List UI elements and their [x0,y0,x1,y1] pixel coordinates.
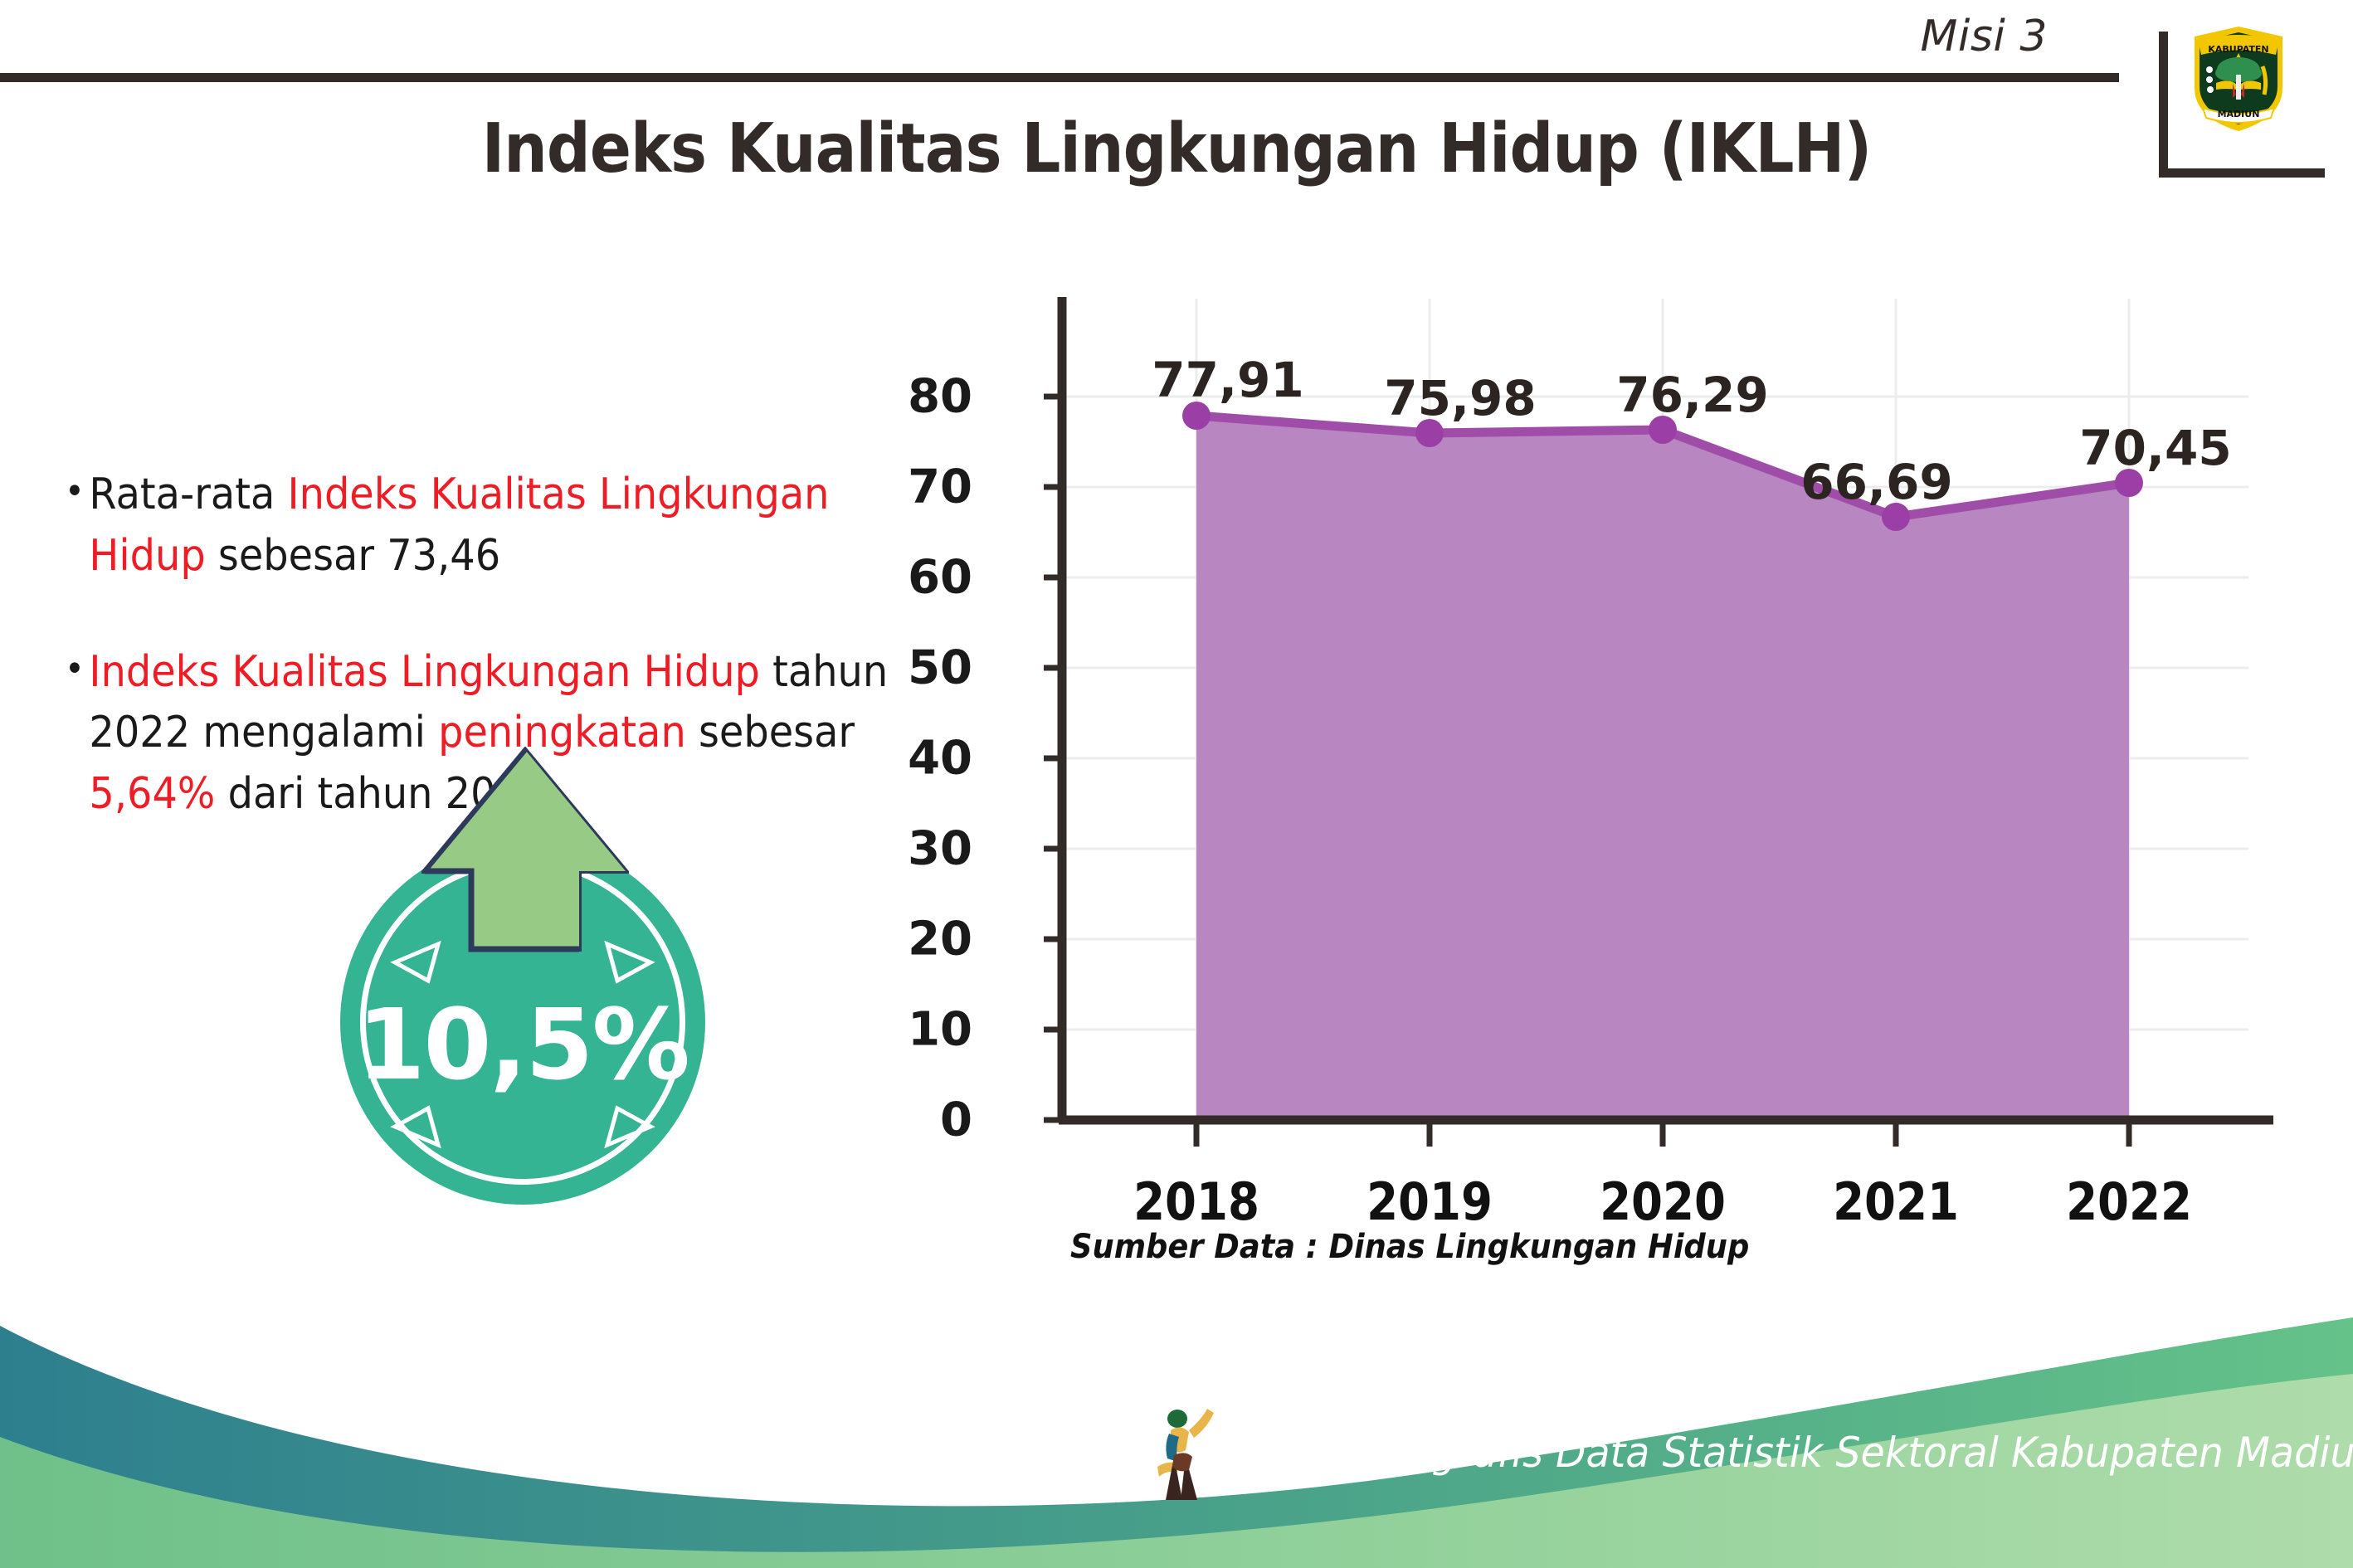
y-axis-label: 40 [873,732,972,786]
x-axis-label: 2018 [1116,1171,1277,1232]
y-axis-label: 70 [873,460,972,514]
data-label: 66,69 [1800,454,1952,510]
header-rule [0,73,2119,82]
bullet-text-plain: sebesar 73,46 [206,531,500,581]
badge-tick-bottom-left-icon [390,1103,448,1153]
mission-label: Misi 3 [1921,12,2048,61]
bullet-text-highlight: Indeks Kualitas Lingkungan Hidup [89,647,760,697]
x-axis-label: 2019 [1349,1171,1510,1232]
data-label: 77,91 [1152,352,1303,408]
y-axis-label: 80 [873,370,972,424]
bullet-text-highlight: 5,64% [89,769,215,819]
bullet-marker: • [65,465,85,519]
y-axis-label: 20 [873,913,972,967]
infographic-slide: Misi 3 KABUPATEN MADIUN Indeks Kualitas … [0,0,2353,1568]
data-label: 75,98 [1384,370,1536,426]
increase-badge: 10,5% [324,747,755,1211]
y-axis-label: 50 [873,641,972,695]
x-axis-label: 2021 [1815,1171,1976,1232]
source-note: Sumber Data : Dinas Lingkungan Hidup [1070,1228,1749,1266]
x-axis-label: 2020 [1582,1171,1743,1232]
badge-tick-bottom-right-icon [597,1103,655,1153]
footer-wave: Media Infografis Data Statistik Sektoral… [0,1294,2353,1568]
bullet-text-plain: Rata-rata [89,470,287,519]
y-axis-label: 30 [873,822,972,876]
chart-area-fill [1196,416,2129,1120]
badge-value: 10,5% [340,987,705,1102]
iklh-area-chart: 0 10 20 30 40 50 60 70 80 2018 2019 2020… [979,282,2273,1203]
x-axis-label: 2022 [2049,1171,2209,1232]
data-label: 76,29 [1616,367,1768,423]
footer-caption: Media Infografis Data Statistik Sektoral… [1226,1429,2353,1477]
data-label: 70,45 [2079,420,2231,476]
y-axis-label: 60 [873,551,972,605]
list-item: • Rata-rata Indeks Kualitas Lingkungan H… [65,465,897,587]
page-title: Indeks Kualitas Lingkungan Hidup (IKLH) [118,110,2235,188]
y-axis-label: 10 [873,1003,972,1057]
y-axis-label: 0 [873,1093,972,1147]
up-arrow-icon [421,747,629,1029]
statistics-figure-icon [1149,1405,1220,1503]
bullet-marker: • [65,642,85,697]
